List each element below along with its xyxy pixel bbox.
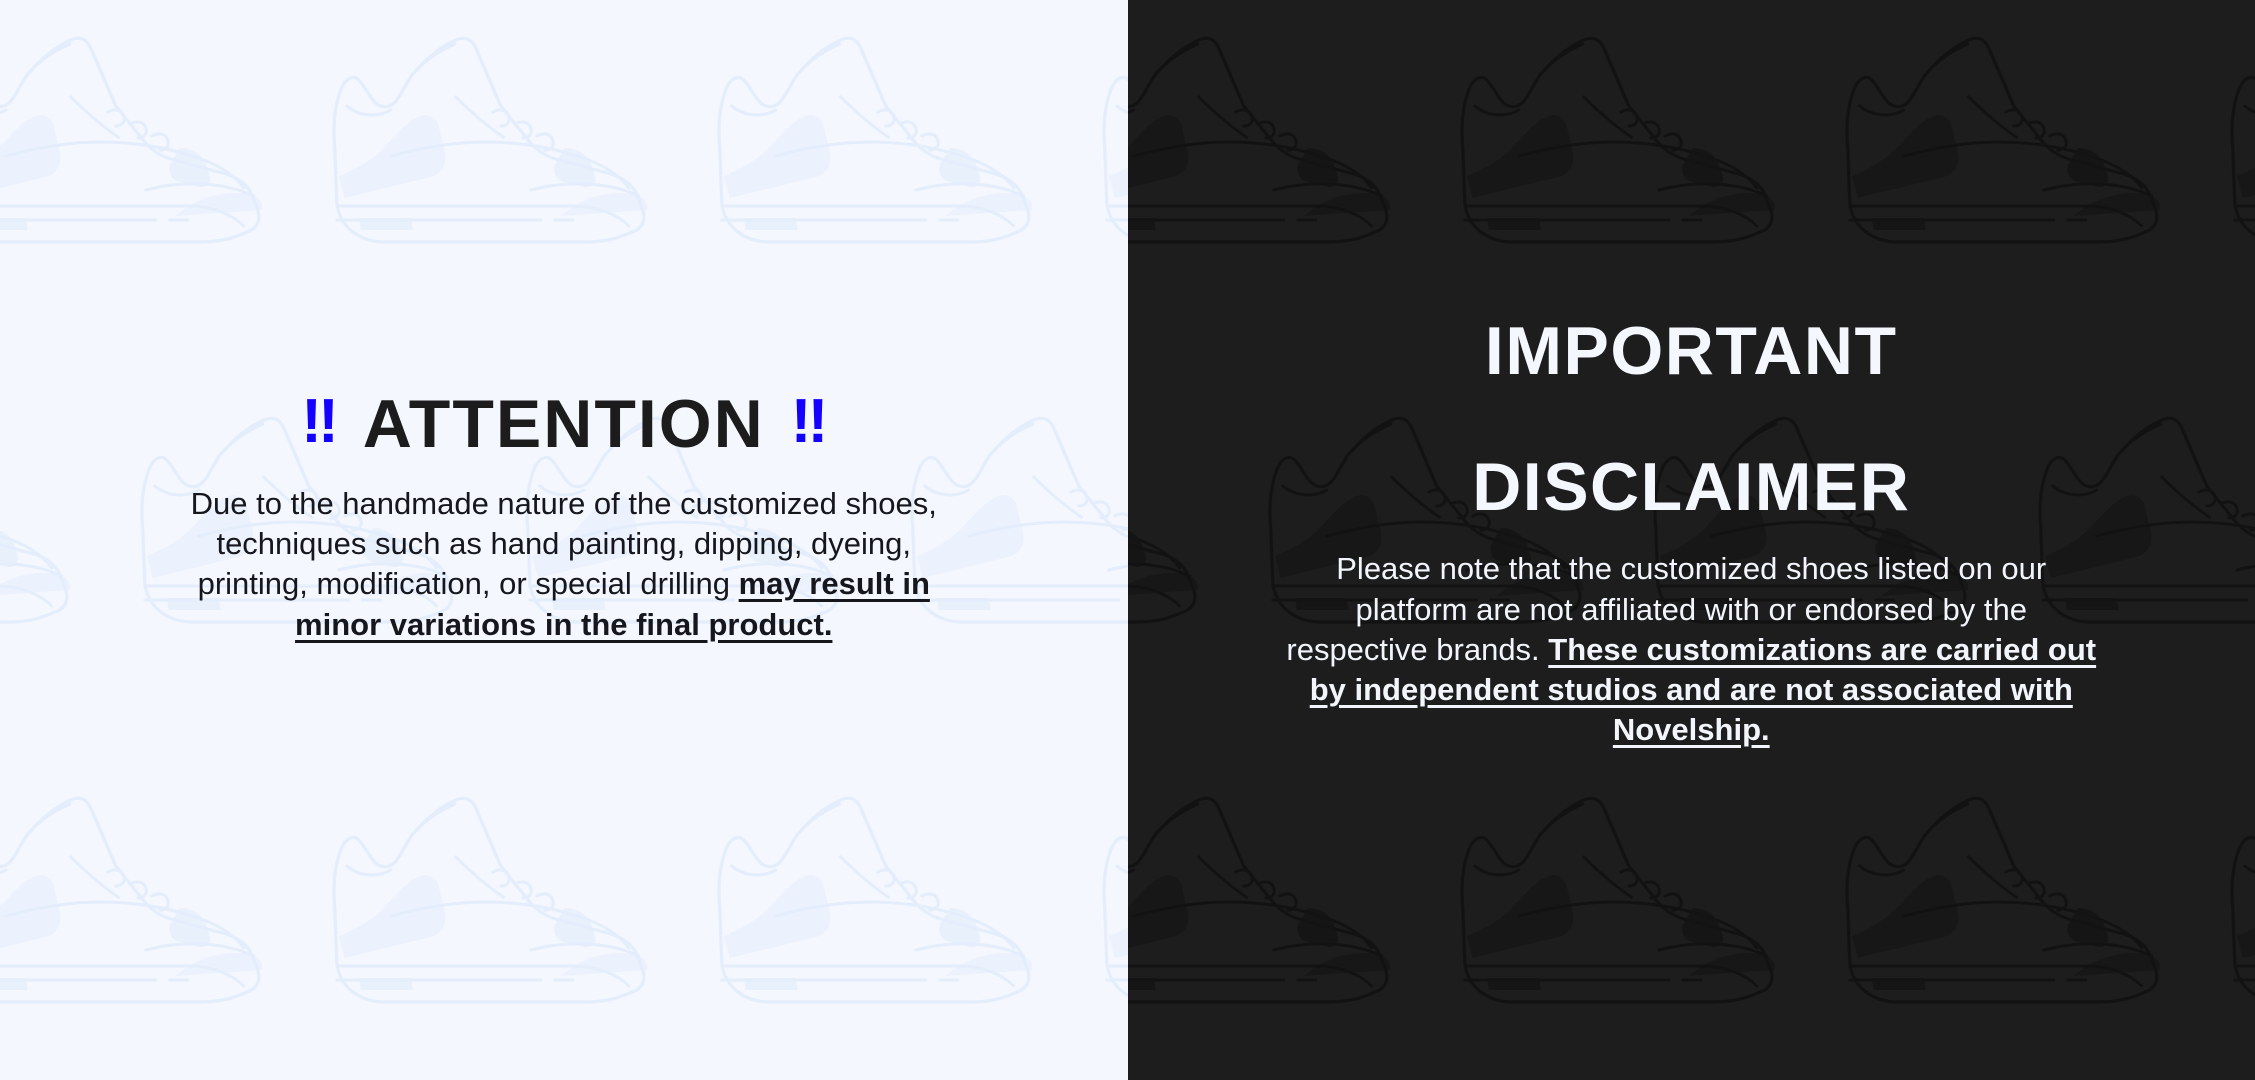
disclaimer-heading: IMPORTANT DISCLAIMER bbox=[1168, 249, 2216, 521]
double-exclamation-right-icon: ‼ bbox=[791, 391, 826, 453]
disclaimer-heading-line-1: IMPORTANT bbox=[1485, 313, 1898, 389]
double-exclamation-left-icon: ‼ bbox=[301, 391, 336, 453]
disclaimer-heading-line-2: DISCLAIMER bbox=[1472, 449, 1910, 525]
attention-content: ‼ ATTENTION ‼ Due to the handmade nature… bbox=[0, 391, 1128, 645]
disclaimer-banner: ‼ ATTENTION ‼ Due to the handmade nature… bbox=[0, 0, 2255, 1080]
disclaimer-content: IMPORTANT DISCLAIMER Please note that th… bbox=[1128, 249, 2255, 750]
disclaimer-body: Please note that the customized shoes li… bbox=[1286, 549, 2096, 750]
attention-heading: ‼ ATTENTION ‼ bbox=[40, 391, 1088, 458]
disclaimer-panel: IMPORTANT DISCLAIMER Please note that th… bbox=[1128, 0, 2255, 1080]
attention-body: Due to the handmade nature of the custom… bbox=[164, 484, 964, 645]
attention-heading-word: ATTENTION bbox=[363, 391, 765, 458]
attention-panel: ‼ ATTENTION ‼ Due to the handmade nature… bbox=[0, 0, 1128, 1080]
